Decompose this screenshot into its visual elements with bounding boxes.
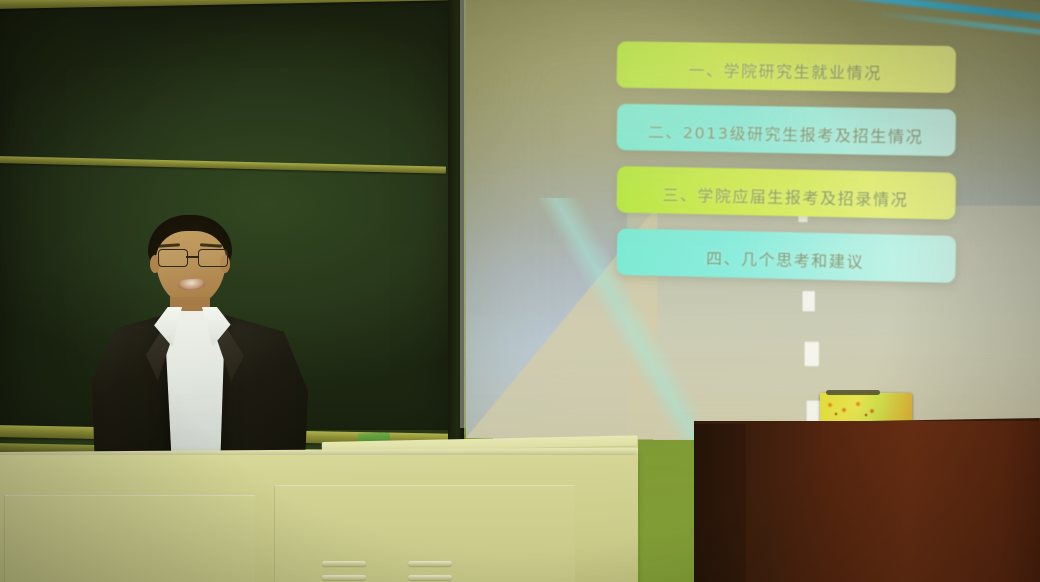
slide-bullet-2: 二、2013级研究生报考及招生情况: [616, 104, 956, 157]
glasses-icon: [154, 249, 230, 267]
lectern-vent: [408, 575, 452, 580]
podium-left-face: [694, 424, 746, 582]
glasses-lens-right: [198, 249, 228, 267]
slide-bullet-2-text: 二、2013级研究生报考及招生情况: [648, 120, 924, 147]
lectern-vent: [322, 575, 366, 580]
decorated-box-lid: [826, 390, 880, 395]
lectern-panel-right: [274, 485, 575, 582]
projection-screen: 一、学院研究生就业情况 二、2013级研究生报考及招生情况 三、学院应届生报考及…: [466, 0, 1040, 444]
lectern-cabinet: [0, 455, 638, 582]
slide-bullet-4-text: 四、几个思考和建议: [706, 247, 864, 273]
lectern-panel-left: [4, 495, 255, 582]
glasses-bridge: [186, 256, 198, 258]
presenter-face: [156, 231, 226, 305]
slide-bullet-list: 一、学院研究生就业情况 二、2013级研究生报考及招生情况 三、学院应届生报考及…: [617, 42, 956, 295]
slide-bullet-1: 一、学院研究生就业情况: [616, 41, 956, 93]
lectern-vent: [322, 561, 366, 566]
slide-bullet-4: 四、几个思考和建议: [616, 228, 956, 282]
slide-bullet-3: 三、学院应届生报考及招录情况: [616, 166, 956, 220]
decorated-box-pattern: [824, 401, 886, 419]
glasses-lens-left: [158, 249, 188, 267]
lecture-photo: 一、学院研究生就业情况 二、2013级研究生报考及招生情况 三、学院应届生报考及…: [0, 0, 1040, 582]
presenter: [92, 215, 307, 485]
slide-bullet-1-text: 一、学院研究生就业情况: [689, 58, 883, 83]
lectern-vent: [408, 561, 452, 566]
slide-bullet-3-text: 三、学院应届生报考及招录情况: [662, 183, 908, 210]
decorated-box: [820, 393, 912, 423]
lane-dash: [805, 342, 819, 366]
